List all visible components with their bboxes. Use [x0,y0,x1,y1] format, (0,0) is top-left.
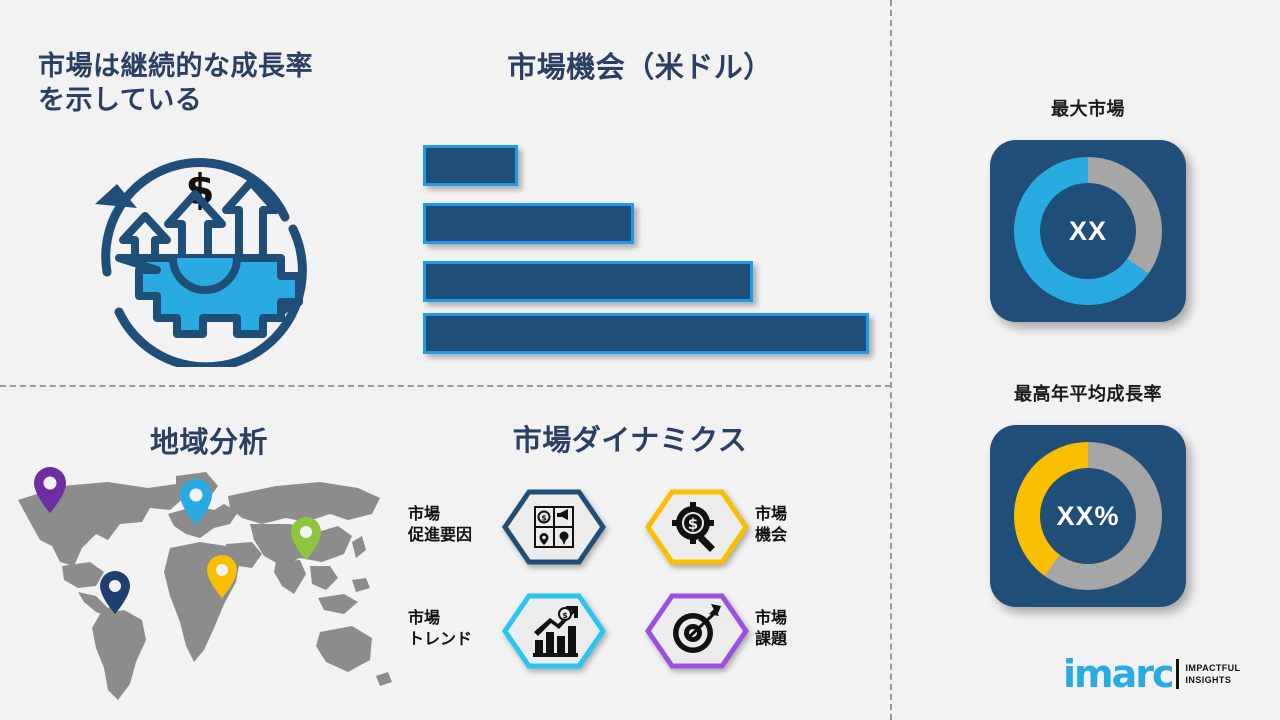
dynamics-item-challenges[interactable]: 市場 課題 [645,592,847,668]
dynamics-label-challenges: 市場 課題 [755,609,847,651]
largest-market-donut: XX [1014,157,1162,305]
bar-item-2 [423,203,634,244]
hex-trends: $ [502,592,606,668]
svg-text:$: $ [541,514,547,523]
bar-item-3 [423,261,753,302]
opportunity-bar-chart [423,145,883,350]
hex-drivers: $ [502,488,606,564]
svg-text:$: $ [688,515,698,533]
opportunity-title: 市場機会（米ドル） [410,50,870,86]
hex-opportunity: $ [645,488,749,564]
logo-separator [1176,659,1179,689]
kpi-highest-cagr-title: 最高年平均成長率 [958,380,1218,406]
bar-item-1 [423,145,518,186]
dynamics-label-trends: 市場 トレンド [408,609,500,651]
kpi-highest-cagr-value: XX% [1014,442,1162,590]
kpi-largest-market-title: 最大市場 [958,95,1218,121]
growth-gear-arrows-icon: $ [75,132,325,367]
dynamics-item-opportunity[interactable]: $ 市場 機会 [645,488,847,564]
kpi-largest-market-card: XX [990,140,1186,322]
svg-text:$: $ [562,611,568,620]
dynamics-item-trends[interactable]: 市場 トレンド $ [408,592,606,668]
dynamics-label-drivers: 市場 促進要因 [408,505,500,547]
logo-tagline-line2: INSIGHTS [1186,674,1241,686]
regional-analysis-title: 地域分析 [150,425,268,461]
world-map [0,462,400,712]
market-dynamics-title: 市場ダイナミクス [400,423,860,459]
vertical-divider [890,0,892,720]
dynamics-item-drivers[interactable]: 市場 促進要因 $ [408,488,606,564]
logo-tagline: IMPACTFUL INSIGHTS [1186,662,1241,686]
highest-cagr-donut: XX% [1014,442,1162,590]
slide-canvas: 市場は継続的な成長率 を示している $ 市場機会（米ドル） 最大市場 [0,0,1280,720]
imarc-logo: imarc IMPACTFUL INSIGHTS [1063,655,1240,693]
logo-wordmark: imarc [1063,655,1173,693]
kpi-largest-market-value: XX [1014,157,1162,305]
kpi-highest-cagr-card: XX% [990,425,1186,607]
horizontal-divider [0,385,891,387]
logo-tagline-line1: IMPACTFUL [1186,662,1241,674]
hex-challenges [645,592,749,668]
growth-title: 市場は継続的な成長率 を示している [38,50,388,118]
dynamics-label-opportunity: 市場 機会 [755,505,847,547]
bar-item-4 [423,313,869,354]
